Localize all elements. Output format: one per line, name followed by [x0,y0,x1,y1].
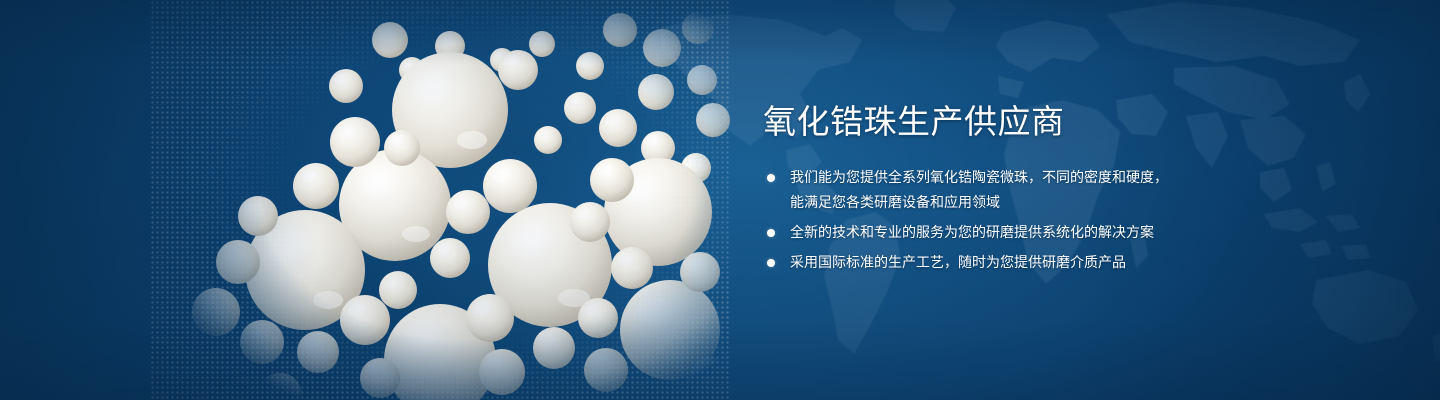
list-item-line-1: 我们能为您提供全系列氧化锆陶瓷微珠，不同的密度和硬度， [790,165,1363,190]
list-item: 全新的技术和专业的服务为您的研磨提供系统化的解决方案 [763,220,1363,245]
bullet-dot-icon [767,259,775,267]
bullet-dot-icon [767,174,775,182]
hero-banner: 氧化锆珠生产供应商 我们能为您提供全系列氧化锆陶瓷微珠，不同的密度和硬度， 能满… [0,0,1440,400]
list-item: 采用国际标准的生产工艺，随时为您提供研磨介质产品 [763,250,1363,275]
list-item-line-1: 采用国际标准的生产工艺，随时为您提供研磨介质产品 [790,250,1363,275]
list-item-line-1: 全新的技术和专业的服务为您的研磨提供系统化的解决方案 [790,220,1363,245]
bullet-dot-icon [767,229,775,237]
feature-list: 我们能为您提供全系列氧化锆陶瓷微珠，不同的密度和硬度， 能满足您各类研磨设备和应… [763,165,1363,275]
list-item: 我们能为您提供全系列氧化锆陶瓷微珠，不同的密度和硬度， 能满足您各类研磨设备和应… [763,165,1363,215]
banner-copy: 氧化锆珠生产供应商 我们能为您提供全系列氧化锆陶瓷微珠，不同的密度和硬度， 能满… [763,100,1363,275]
list-item-line-2: 能满足您各类研磨设备和应用领域 [790,190,1363,215]
page-title: 氧化锆珠生产供应商 [763,100,1363,144]
